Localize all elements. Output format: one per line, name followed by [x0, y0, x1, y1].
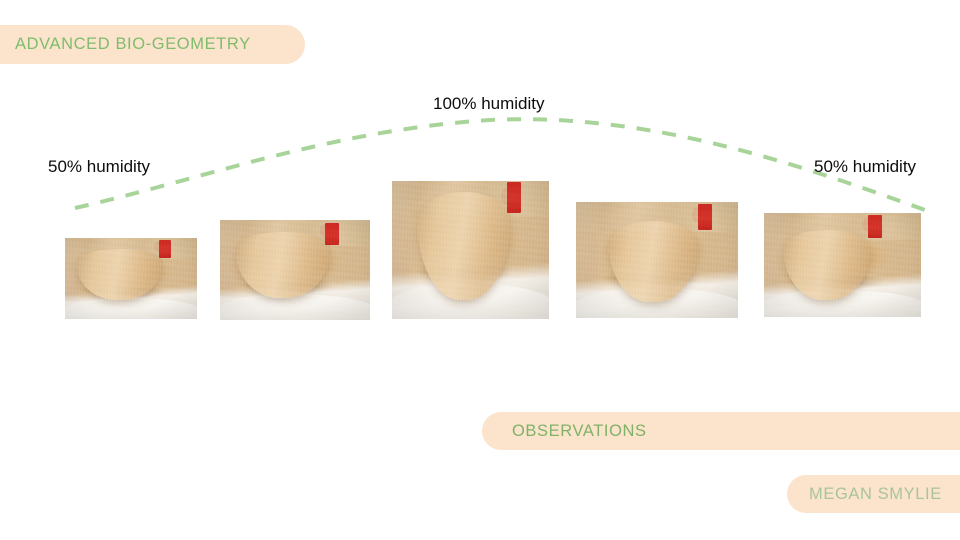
specimen-photo-vignette — [764, 213, 921, 317]
specimen-photo — [576, 202, 738, 318]
humidity-label-right: 50% humidity — [814, 157, 916, 177]
specimen-photo-image — [392, 181, 549, 319]
specimen-photo — [220, 220, 370, 320]
observations-badge-label: OBSERVATIONS — [512, 422, 647, 441]
specimen-photo-vignette — [65, 238, 197, 319]
specimen-photo-image — [576, 202, 738, 318]
slide-canvas: ADVANCED BIO-GEOMETRY 50% humidity 100% … — [0, 0, 960, 540]
author-badge-label: MEGAN SMYLIE — [809, 485, 942, 504]
title-badge-label: ADVANCED BIO-GEOMETRY — [15, 35, 251, 54]
title-badge: ADVANCED BIO-GEOMETRY — [0, 25, 305, 64]
author-badge: MEGAN SMYLIE — [787, 475, 960, 513]
humidity-label-center: 100% humidity — [433, 94, 545, 114]
observations-badge: OBSERVATIONS — [482, 412, 960, 450]
specimen-photo-image — [764, 213, 921, 317]
humidity-label-left: 50% humidity — [48, 157, 150, 177]
specimen-photo — [65, 238, 197, 319]
specimen-photo — [392, 181, 549, 319]
specimen-photo-image — [220, 220, 370, 320]
specimen-photo-image — [65, 238, 197, 319]
specimen-photo-vignette — [220, 220, 370, 320]
specimen-photo-vignette — [576, 202, 738, 318]
specimen-photo — [764, 213, 921, 317]
specimen-photo-vignette — [392, 181, 549, 319]
